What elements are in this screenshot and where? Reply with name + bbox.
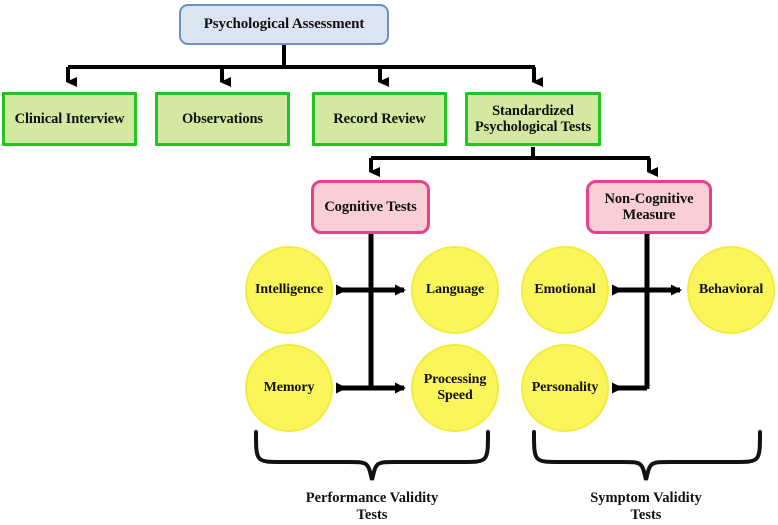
- node-label-line1: Processing: [424, 372, 487, 387]
- flowchart-canvas: Psychological Assessment Clinical Interv…: [0, 0, 778, 525]
- node-label: Language: [426, 282, 484, 298]
- node-label-line2: Speed: [437, 388, 472, 403]
- node-label: Non-Cognitive Measure: [605, 191, 694, 223]
- node-label: Psychological Assessment: [204, 16, 365, 33]
- node-label: Clinical Interview: [15, 111, 125, 127]
- node-language[interactable]: Language: [411, 246, 499, 334]
- connector-layer: [0, 0, 778, 525]
- node-label-line2: Psychological Tests: [475, 119, 591, 135]
- node-label: Emotional: [534, 282, 595, 298]
- node-label: Cognitive Tests: [324, 199, 416, 215]
- edge-root-to-bus: [68, 45, 535, 67]
- node-label-line1: Standardized: [492, 103, 574, 119]
- brace-performance-validity: [256, 432, 488, 480]
- node-personality[interactable]: Personality: [521, 344, 609, 432]
- edge-bus-to-methods: [68, 67, 534, 82]
- node-standardized-psychological-tests[interactable]: Standardized Psychological Tests: [465, 92, 601, 146]
- node-label: Observations: [182, 111, 263, 127]
- label-line1: Performance Validity: [306, 490, 439, 506]
- node-label: Record Review: [333, 111, 426, 127]
- node-label: Processing Speed: [424, 372, 487, 403]
- node-label: Intelligence: [255, 282, 323, 298]
- node-label-line1: Non-Cognitive: [605, 191, 694, 207]
- node-behavioral[interactable]: Behavioral: [687, 246, 775, 334]
- node-emotional[interactable]: Emotional: [521, 246, 609, 334]
- node-non-cognitive-measure[interactable]: Non-Cognitive Measure: [586, 180, 712, 234]
- node-label: Memory: [264, 380, 315, 396]
- label-line1: Symptom Validity: [590, 490, 702, 506]
- node-record-review[interactable]: Record Review: [312, 92, 447, 146]
- label-symptom-validity-tests: Symptom Validity Tests: [540, 490, 752, 524]
- edge-standardized-to-bus: [371, 147, 650, 172]
- label-performance-validity-tests: Performance Validity Tests: [262, 490, 482, 524]
- brace-symptom-validity: [534, 432, 760, 480]
- node-label-line2: Measure: [622, 207, 675, 223]
- node-processing-speed[interactable]: Processing Speed: [411, 344, 499, 432]
- node-intelligence[interactable]: Intelligence: [245, 246, 333, 334]
- node-cognitive-tests[interactable]: Cognitive Tests: [311, 180, 430, 234]
- node-label: Personality: [532, 380, 599, 396]
- node-label: Behavioral: [699, 282, 763, 298]
- node-label: Standardized Psychological Tests: [475, 103, 591, 135]
- label-line2: Tests: [357, 507, 388, 523]
- node-clinical-interview[interactable]: Clinical Interview: [2, 92, 137, 146]
- label-line2: Tests: [631, 507, 662, 523]
- node-memory[interactable]: Memory: [245, 344, 333, 432]
- node-observations[interactable]: Observations: [155, 92, 290, 146]
- node-psychological-assessment[interactable]: Psychological Assessment: [179, 4, 389, 45]
